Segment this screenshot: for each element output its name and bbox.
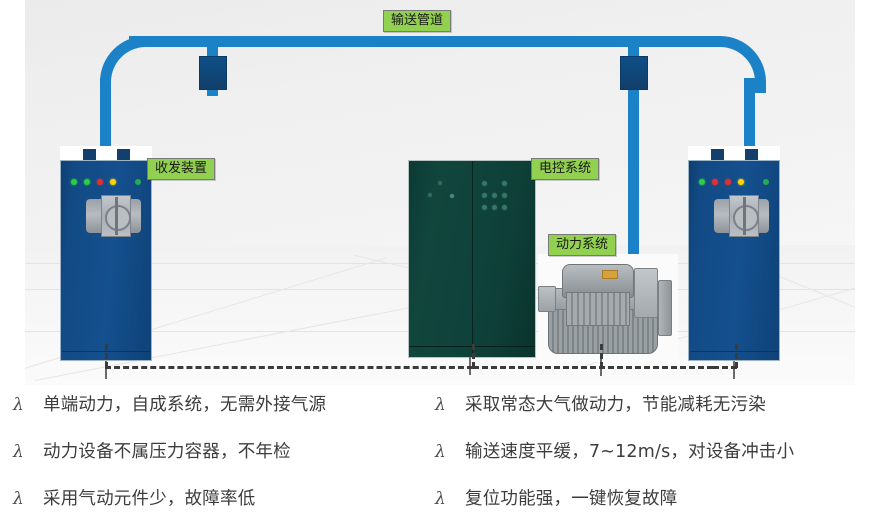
system-diagram: 输送管道 收发装置 电控系统 动力系统 <box>25 0 855 385</box>
bullet-text: 单端动力，自成系统，无需外接气源 <box>43 391 326 416</box>
valve-stem-right <box>743 197 746 235</box>
valve-stem-left <box>115 197 118 235</box>
bullet-text: 复位功能强，一键恢复故障 <box>465 485 677 510</box>
list-item: λ 动力设备不属压力容器，不年检 <box>8 438 438 485</box>
blower-cooling-fins <box>566 292 630 326</box>
bullet-text: 输送速度平缓，7~12m/s，对设备冲击小 <box>465 438 794 463</box>
list-item: λ 复位功能强，一键恢复故障 <box>430 485 880 532</box>
label-send-receive-device: 收发装置 <box>147 158 215 180</box>
indicator-light-row-right <box>699 179 771 186</box>
blower-nameplate <box>602 270 618 279</box>
lambda-bullet-icon: λ <box>430 489 465 509</box>
unit-top-flange-right <box>688 146 780 161</box>
blower-outlet-flange <box>658 280 672 336</box>
butterfly-disc-right <box>733 205 759 231</box>
bullet-column-right: λ 采取常态大气做动力，节能减耗无污染 λ 输送速度平缓，7~12m/s，对设备… <box>430 391 880 532</box>
lambda-bullet-icon: λ <box>430 442 465 462</box>
lambda-bullet-icon: λ <box>8 395 43 415</box>
lambda-bullet-icon: λ <box>8 489 43 509</box>
list-item: λ 单端动力，自成系统，无需外接气源 <box>8 391 438 438</box>
bullet-text: 采用气动元件少，故障率低 <box>43 485 255 510</box>
indicator-light-row-left <box>71 179 143 186</box>
list-item: λ 采用气动元件少，故障率低 <box>8 485 438 532</box>
lambda-bullet-icon: λ <box>8 442 43 462</box>
power-blower-unit <box>542 258 674 358</box>
valve-block-right <box>620 56 648 90</box>
unit-body-left <box>60 160 152 361</box>
label-conveying-pipeline: 输送管道 <box>383 10 451 32</box>
blower-terminal-box <box>634 268 658 318</box>
list-item: λ 采取常态大气做动力，节能减耗无污染 <box>430 391 880 438</box>
unit-top-flange-left <box>60 146 152 161</box>
lambda-bullet-icon: λ <box>430 395 465 415</box>
valve-block-left <box>199 56 227 90</box>
bullet-text: 动力设备不属压力容器，不年检 <box>43 438 291 463</box>
bullet-column-left: λ 单端动力，自成系统，无需外接气源 λ 动力设备不属压力容器，不年检 λ 采用… <box>8 391 438 532</box>
label-power-system: 动力系统 <box>548 234 616 256</box>
label-control-system: 电控系统 <box>531 158 599 180</box>
feature-bullet-list: λ 单端动力，自成系统，无需外接气源 λ 动力设备不属压力容器，不年检 λ 采用… <box>0 385 880 532</box>
butterfly-disc-left <box>105 205 131 231</box>
list-item: λ 输送速度平缓，7~12m/s，对设备冲击小 <box>430 438 880 485</box>
pipe-elbow-top-right <box>709 36 766 93</box>
electrical-control-cabinet <box>408 160 536 358</box>
bullet-text: 采取常态大气做动力，节能减耗无污染 <box>465 391 766 416</box>
blower-left-port <box>538 286 556 312</box>
unit-body-right <box>688 160 780 361</box>
